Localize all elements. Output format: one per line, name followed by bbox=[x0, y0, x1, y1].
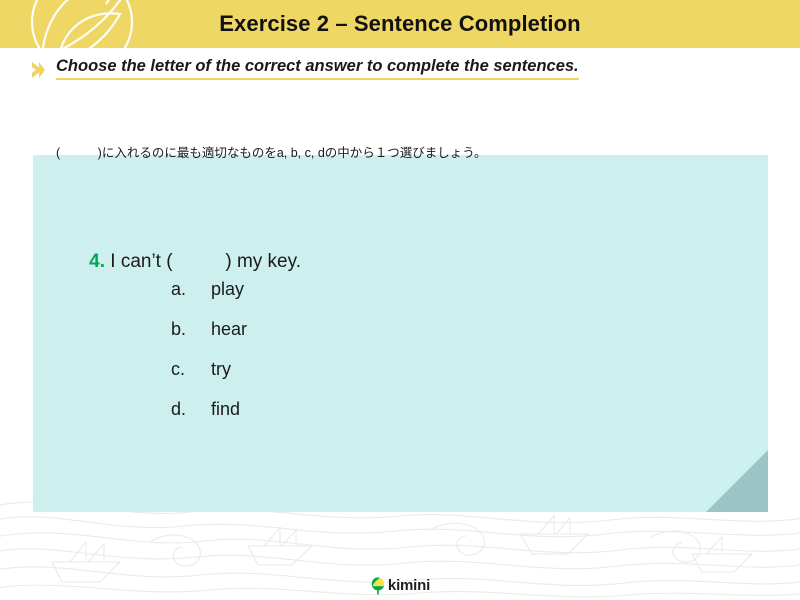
kimini-logo-text: kimini bbox=[388, 577, 430, 595]
page-fold-corner-icon bbox=[706, 450, 768, 512]
instruction-japanese-text: ( )に入れるのに最も適切なものをa, b, c, dの中から１つ選びましょう。 bbox=[56, 144, 487, 162]
instruction-english-text: Choose the letter of the correct answer … bbox=[56, 56, 579, 80]
question-number: 4. bbox=[89, 251, 105, 272]
choice-letter: b. bbox=[171, 319, 211, 340]
choice-letter: c. bbox=[171, 359, 211, 380]
list-item[interactable]: d. find bbox=[171, 399, 247, 439]
choice-letter: a. bbox=[171, 279, 211, 300]
choice-text: hear bbox=[211, 319, 247, 340]
content-panel: 4. I can’t ( ) my key. a. play b. hear c… bbox=[33, 155, 768, 512]
kimini-logo: kimini bbox=[0, 574, 800, 598]
page-title: Exercise 2 – Sentence Completion bbox=[0, 0, 800, 48]
slide-header: Exercise 2 – Sentence Completion bbox=[0, 0, 800, 48]
list-item[interactable]: b. hear bbox=[171, 319, 247, 359]
choice-list: a. play b. hear c. try d. find bbox=[171, 279, 247, 439]
list-item[interactable]: c. try bbox=[171, 359, 247, 399]
choice-text: try bbox=[211, 359, 247, 380]
instruction-block: Choose the letter of the correct answer … bbox=[0, 56, 800, 84]
list-item[interactable]: a. play bbox=[171, 279, 247, 319]
question-text: I can’t ( ) my key. bbox=[105, 251, 301, 272]
instruction-english-row: Choose the letter of the correct answer … bbox=[0, 56, 800, 84]
choice-text: find bbox=[211, 399, 247, 420]
choice-text: play bbox=[211, 279, 247, 300]
choice-letter: d. bbox=[171, 399, 211, 420]
kimini-egg-icon bbox=[370, 577, 386, 595]
chevron-right-icon bbox=[30, 61, 46, 79]
